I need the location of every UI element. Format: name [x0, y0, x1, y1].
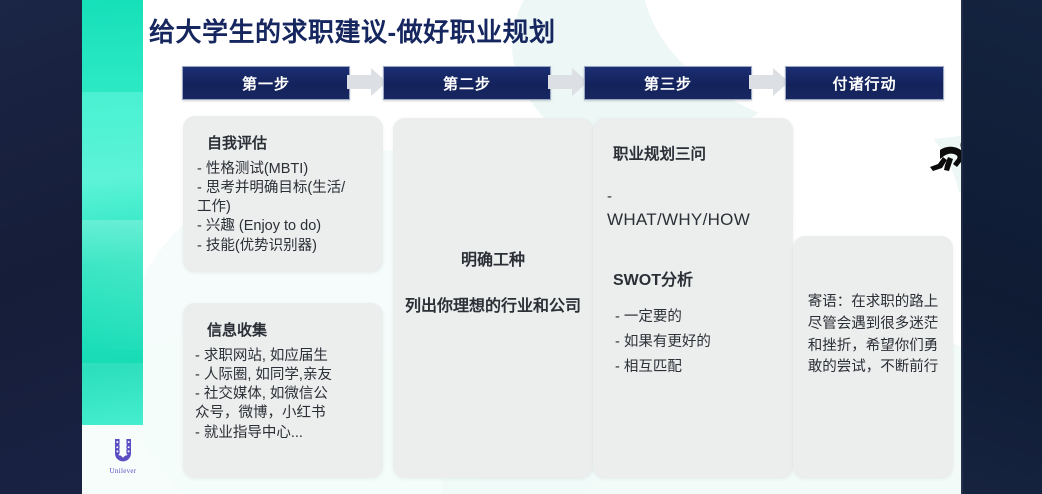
list-item: - 社交媒体, 如微信公 [195, 385, 377, 404]
list-item: 工作) [197, 198, 375, 217]
card-closing-message: 寄语：在求职的路上尽管会遇到很多迷茫和挫折，希望你们勇敢的尝试，不断前行 [793, 236, 953, 478]
step-arrow-3-icon [749, 68, 789, 96]
runner-icon [927, 137, 961, 179]
list-item: - 兴趣 (Enjoy to do) [197, 217, 375, 236]
unilever-wordmark: Unilever [110, 467, 137, 475]
list-item: - 相互匹配 [615, 358, 785, 377]
card-career-planning-question: WHAT/WHY/HOW [607, 210, 750, 230]
step-chip-1: 第一步 [182, 66, 350, 100]
card-career-planning-body: - 一定要的 - 如果有更好的 - 相互匹配 [615, 308, 785, 383]
list-item: - 性格测试(MBTI) [197, 160, 375, 179]
video-slide-screen: 给大学生的求职建议-做好职业规划 第一步 第二步 第三步 付诸行动 [0, 0, 1042, 494]
stripe-facet-bottom [82, 363, 143, 425]
step-chip-3: 第三步 [584, 66, 752, 100]
list-item: - 思考并明确目标(生活/ [197, 179, 375, 198]
list-item: - 如果有更好的 [615, 333, 785, 352]
card-information-gathering-body: - 求职网站, 如应届生 - 人际圈, 如同学,亲友 - 社交媒体, 如微信公 … [195, 347, 377, 443]
list-item: - 就业指导中心... [195, 424, 377, 443]
step-arrow-2-icon [548, 68, 588, 96]
step-chip-2: 第二步 [383, 66, 551, 100]
step-ribbon: 第一步 第二步 第三步 付诸行动 [182, 66, 942, 98]
card-self-assessment: 自我评估 - 性格测试(MBTI) - 思考并明确目标(生活/ 工作) - 兴趣… [183, 116, 383, 272]
card-closing-message-text: 寄语：在求职的路上尽管会遇到很多迷茫和挫折，希望你们勇敢的尝试，不断前行 [805, 292, 941, 379]
unilever-logo: Unilever [94, 436, 152, 486]
brand-accent-stripe [82, 0, 143, 425]
stripe-facet-mid [82, 220, 143, 350]
card-self-assessment-heading: 自我评估 [207, 132, 267, 153]
card-career-planning-dash: - [607, 188, 612, 205]
slide-canvas: 给大学生的求职建议-做好职业规划 第一步 第二步 第三步 付诸行动 [82, 0, 961, 494]
list-item: - 人际圈, 如同学,亲友 [195, 366, 377, 385]
card-information-gathering-heading: 信息收集 [207, 319, 267, 340]
list-item: - 一定要的 [615, 308, 785, 327]
slide-title: 给大学生的求职建议-做好职业规划 [149, 12, 556, 49]
card-define-job-type: 明确工种 列出你理想的行业和公司 [393, 118, 593, 478]
card-career-planning-subheading: SWOT分析 [613, 266, 693, 290]
player-right-frame [961, 0, 1042, 494]
step-chip-4: 付诸行动 [785, 66, 944, 100]
card-define-job-type-heading: 明确工种 [393, 246, 593, 270]
card-define-job-type-subtext: 列出你理想的行业和公司 [393, 292, 593, 316]
list-item: - 技能(优势识别器) [197, 237, 375, 256]
card-career-planning-heading: 职业规划三问 [613, 142, 706, 164]
card-define-job-type-body: 明确工种 列出你理想的行业和公司 [393, 246, 593, 316]
stripe-facet-top [82, 0, 143, 92]
card-self-assessment-body: - 性格测试(MBTI) - 思考并明确目标(生活/ 工作) - 兴趣 (Enj… [197, 160, 375, 256]
player-left-frame [0, 0, 82, 494]
card-career-planning: 职业规划三问 - WHAT/WHY/HOW SWOT分析 - 一定要的 - 如果… [593, 118, 793, 478]
list-item: - 求职网站, 如应届生 [195, 347, 377, 366]
card-information-gathering: 信息收集 - 求职网站, 如应届生 - 人际圈, 如同学,亲友 - 社交媒体, … [183, 303, 383, 478]
step-arrow-1-icon [347, 68, 387, 96]
list-item: 众号，微博，小红书 [195, 404, 377, 423]
